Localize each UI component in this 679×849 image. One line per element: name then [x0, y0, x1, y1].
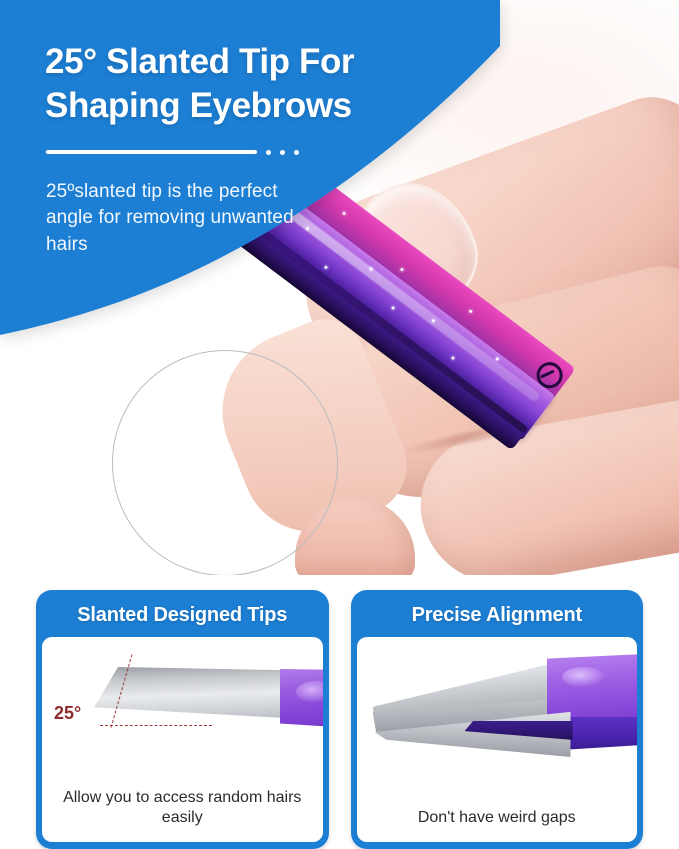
card-body: Don't have weird gaps — [357, 637, 638, 842]
card-caption: Don't have weird gaps — [357, 804, 638, 842]
tweezer-purple-body — [547, 653, 638, 723]
hero-text-block: 25° Slanted Tip For Shaping Eyebrows 25º… — [0, 0, 470, 259]
divider-dot-1 — [266, 150, 271, 155]
card-body: 25° Allow you to access random hairs eas… — [42, 637, 323, 842]
feature-cards: Slanted Designed Tips 25° Allow you to a… — [0, 590, 679, 849]
feature-card-slanted-tips: Slanted Designed Tips 25° Allow you to a… — [36, 590, 329, 849]
angle-guide-horizontal — [100, 725, 212, 726]
divider-dot-3 — [294, 150, 299, 155]
blade-metal — [94, 667, 294, 723]
page-title: 25° Slanted Tip For Shaping Eyebrows — [45, 40, 465, 128]
feature-card-precise-alignment: Precise Alignment Don't have weird gaps — [351, 590, 644, 849]
closed-tweezer-tips-diagram — [357, 637, 638, 804]
card-title: Slanted Designed Tips — [42, 596, 323, 637]
hero-photo-section: 25° Slanted Tip For Shaping Eyebrows 25º… — [0, 0, 679, 575]
slanted-blade-angle-diagram: 25° — [42, 637, 323, 784]
card-caption: Allow you to access random hairs easily — [42, 784, 323, 842]
divider-line — [46, 150, 257, 154]
angle-label: 25° — [54, 703, 81, 724]
divider-dot-2 — [280, 150, 285, 155]
product-feature-image: 25° Slanted Tip For Shaping Eyebrows 25º… — [0, 0, 679, 849]
card-title: Precise Alignment — [357, 596, 638, 637]
hero-subtitle: 25ºslanted tip is the perfect angle for … — [46, 179, 308, 260]
divider — [46, 150, 299, 155]
tweezer-purple-highlight — [562, 667, 606, 687]
